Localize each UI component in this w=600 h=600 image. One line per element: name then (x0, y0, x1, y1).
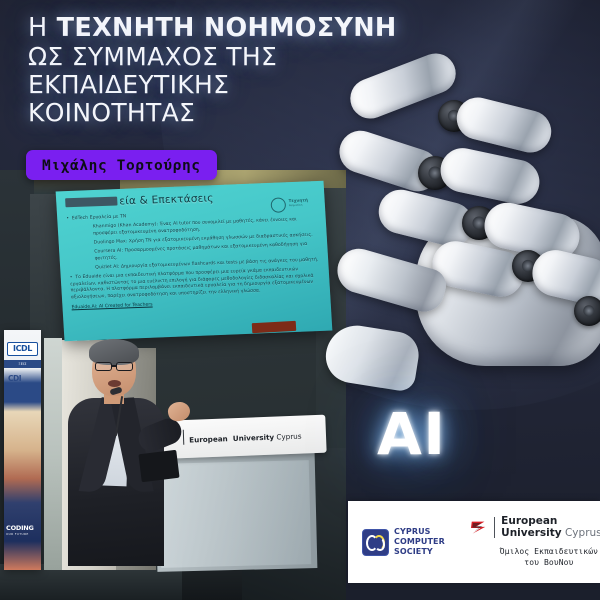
headline-article: Η (28, 13, 47, 43)
euc-divider (494, 517, 495, 538)
slide-brain-logo: Τεχνητή Νοημοσύνη (270, 195, 317, 215)
secondary-banner (44, 338, 62, 570)
banner-strip-text: ΞΕΙΣ (4, 360, 41, 368)
robot-pinky-end-knuckle (574, 296, 600, 326)
slide-title-redaction (65, 197, 117, 208)
lectern-sign-line2: University Cyprus (233, 432, 302, 443)
icdl-logo: ICDL (7, 342, 38, 356)
laptop-icon (138, 450, 179, 482)
brain-ring-icon (270, 197, 286, 213)
banner-strip: ΞΕΙΣ (4, 360, 41, 368)
euc-wordmark: European University Cyprus (501, 516, 600, 540)
slide-bullet-text: Το Eduaide είναι μια εκπαιδευτική πλατφό… (70, 267, 314, 300)
robot-middle-mid (437, 144, 544, 208)
ai-headline-word: AI (377, 400, 446, 468)
ccs-monogram-icon (362, 529, 389, 556)
ccs-line3: SOCIETY (394, 547, 445, 557)
robot-index-mid (452, 93, 555, 157)
lectern-sign-line2-bold: University (233, 433, 275, 443)
euc-line2: University Cyprus (501, 528, 600, 540)
icdl-rollup-banner: ICDL ΞΕΙΣ CDI CODINGOUR FUTURE (4, 330, 41, 570)
glasses-lens-right-icon (116, 362, 133, 371)
euc-swoosh-icon (469, 518, 488, 537)
ccs-s-icon (375, 537, 385, 551)
robot-hand-illustration (320, 28, 600, 368)
slide-bullet-text: EdTech Εργαλεία με ΤΝ (72, 214, 127, 221)
cdi-logo-text: CDI (8, 374, 21, 383)
speaker-name: Μιχάλης Τορτούρης (42, 158, 201, 174)
coding-banner-text: CODINGOUR FUTURE (6, 524, 39, 536)
coding-title: CODING (6, 524, 34, 532)
slide-bullet-list: • EdTech Εργαλεία με ΤΝ Khanmigo (Khan A… (66, 207, 321, 311)
slide-logo-line1: Τεχνητή (288, 197, 308, 203)
glasses-lens-left-icon (95, 362, 112, 371)
euc-greek-subtitle: Όμιλος Εκπαιδευτικών του ΒουΝου (469, 546, 600, 568)
euc-greek-line2: του ΒουΝου (469, 557, 600, 568)
coding-subtitle: OUR FUTURE (6, 532, 39, 536)
ccs-wordmark: CYPRUS COMPUTER SOCIETY (394, 527, 445, 556)
projection-slide: εία & Επεκτάσεις • EdTech Εργαλεία με ΤΝ… (56, 181, 333, 341)
poster-canvas: Η ΤΕΧΝΗΤΗ ΝΟΗΜΟΣΥΝΗ ΩΣ ΣΥΜΜΑΧΟΣ ΤΗΣ ΕΚΠΑ… (0, 0, 600, 600)
euc-greek-line1: Όμιλος Εκπαιδευτικών (469, 546, 600, 557)
lectern-sign-line1: European (189, 434, 228, 444)
speaker-name-badge: Μιχάλης Τορτούρης (26, 150, 217, 180)
cyprus-computer-society-logo: CYPRUS COMPUTER SOCIETY (362, 527, 445, 556)
euc-line2-bold: University (501, 527, 561, 539)
glasses-bridge-icon (111, 365, 117, 367)
icdl-logo-text: ICDL (8, 343, 37, 354)
ccs-line1: CYPRUS (394, 527, 445, 537)
lectern-sign-line2-rest: Cyprus (274, 432, 302, 442)
slide-title-text: εία & Επεκτάσεις (119, 192, 214, 207)
ccs-line2: COMPUTER (394, 537, 445, 547)
sponsor-logo-panel: CYPRUS COMPUTER SOCIETY European Univers… (348, 501, 600, 583)
european-university-cyprus-logo: European University Cyprus Όμιλος Εκπαιδ… (469, 516, 600, 568)
euc-line2-rest: Cyprus (562, 527, 600, 539)
euc-logo-row: European University Cyprus (469, 516, 600, 540)
slide-logo-line2: Νοημοσύνη (289, 204, 303, 208)
